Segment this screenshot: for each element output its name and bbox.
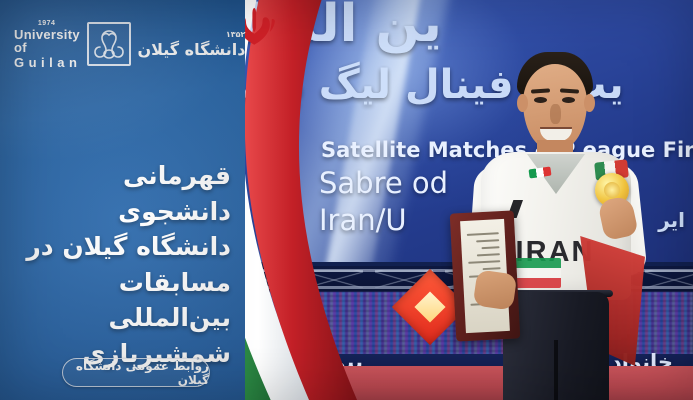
- backdrop-english-line-3: Iran/U: [319, 203, 407, 237]
- university-logo[interactable]: 1974 University of Guilan ۱۳۵۲ دانشگاه گ…: [14, 20, 210, 68]
- athlete-figure: IRAN: [455, 40, 670, 400]
- logo-persian-block: ۱۳۵۲ دانشگاه گیلان: [137, 30, 245, 59]
- guilan-emblem-icon: [87, 22, 131, 66]
- logo-founding-year-fa: ۱۳۵۲: [226, 30, 246, 39]
- athlete-nose: [550, 104, 561, 124]
- athlete-ear-right: [584, 94, 595, 112]
- logo-founding-year-en: 1974: [38, 20, 56, 27]
- text-panel: 1974 University of Guilan ۱۳۵۲ دانشگاه گ…: [0, 0, 245, 400]
- logo-line-university-of: University of: [14, 28, 81, 54]
- public-relations-badge[interactable]: روابط عمومی دانشگاه گیلان: [62, 358, 210, 387]
- athlete-eye-right: [562, 97, 575, 103]
- athlete-hand-left: [473, 269, 518, 310]
- logo-english-block: 1974 University of Guilan: [14, 20, 81, 69]
- athlete-eye-left: [534, 97, 547, 103]
- athlete-leg-separation: [554, 340, 558, 400]
- logo-line-guilan: Guilan: [14, 56, 81, 69]
- athlete-ear-left: [517, 94, 528, 112]
- backdrop-english-line-2: Sabre od: [319, 166, 448, 200]
- page-title: قهرمانی دانشجوی دانشگاه گیلان در مسابقات…: [19, 158, 231, 371]
- news-banner: ین المللـ یت و فینال لیگ برتر Satellite …: [0, 0, 693, 400]
- logo-name-persian: دانشگاه گیلان: [137, 40, 245, 59]
